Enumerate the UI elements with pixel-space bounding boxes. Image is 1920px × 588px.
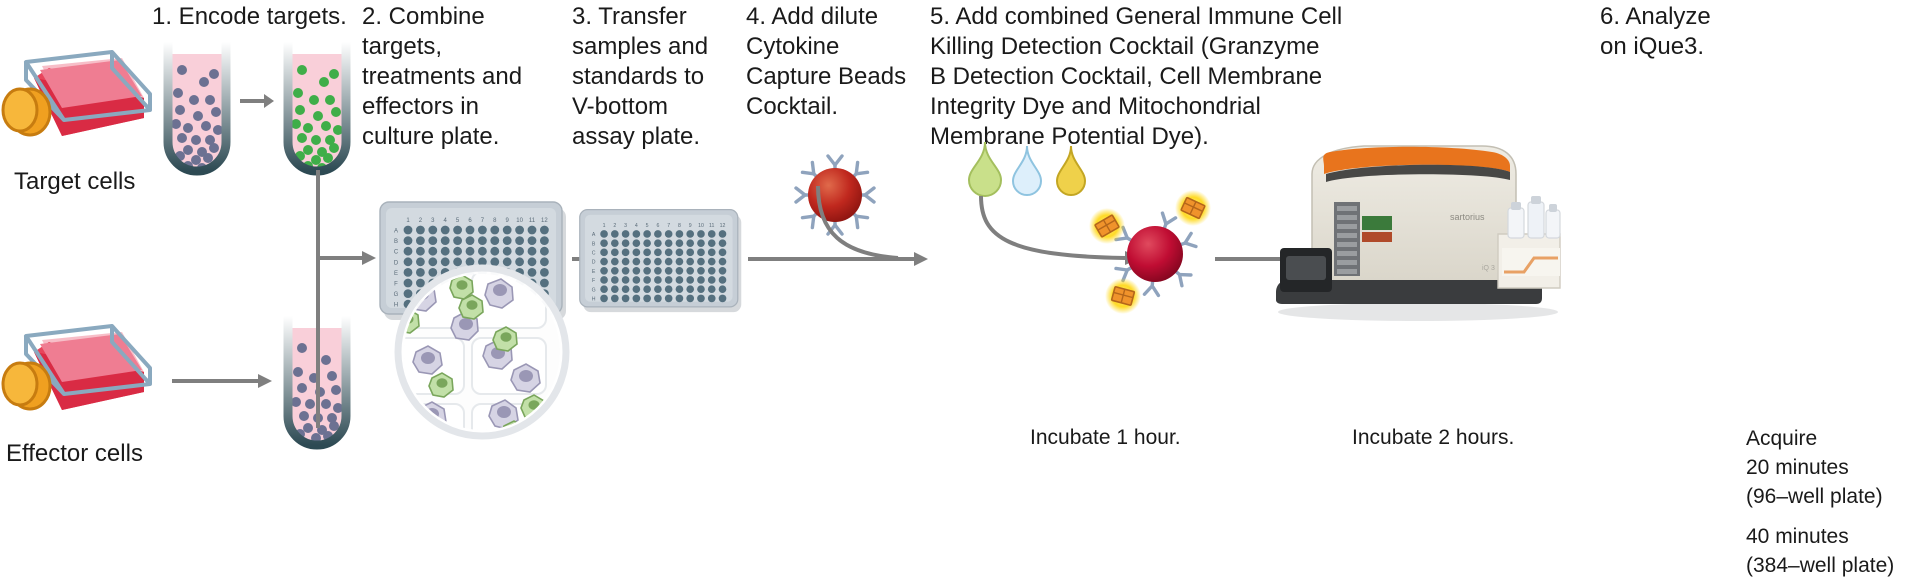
incubate-1-hour-caption: Incubate 1 hour. <box>1030 424 1181 451</box>
plate-col-header: 11 <box>709 223 715 229</box>
plate-well <box>643 276 651 284</box>
plate-well <box>622 258 630 266</box>
labeled-bead-graphic <box>1075 182 1225 322</box>
plate-well <box>428 236 437 245</box>
plate-well <box>643 267 651 275</box>
target-cells-flask-graphic <box>4 48 154 158</box>
plate-well <box>622 267 630 275</box>
plate-well <box>719 276 727 284</box>
plate-well <box>708 295 716 303</box>
plate-well <box>643 230 651 238</box>
plate-well <box>441 226 450 235</box>
plate-well <box>600 249 608 257</box>
plate-well <box>515 226 524 235</box>
plate-well <box>540 236 549 245</box>
plate-well <box>600 230 608 238</box>
plate-well <box>515 247 524 256</box>
plate-well <box>611 267 619 275</box>
plate-well <box>697 285 705 293</box>
plate-well <box>611 285 619 293</box>
plate-well <box>708 276 716 284</box>
plate-well <box>490 257 499 266</box>
target-tube-unstained-graphic <box>158 38 236 178</box>
plate-row-header: A <box>394 229 398 235</box>
plate-well <box>697 239 705 247</box>
plate-well <box>428 247 437 256</box>
step-4-label: 4. Add dilute Cytokine Capture Beads Coc… <box>746 2 946 122</box>
plate-well <box>416 257 425 266</box>
plate-well <box>697 276 705 284</box>
plate-well <box>708 258 716 266</box>
incubate-2-hours-caption: Incubate 2 hours. <box>1352 424 1514 451</box>
plate-col-header: 3 <box>624 223 627 229</box>
plate-well <box>676 239 684 247</box>
plate-well <box>540 226 549 235</box>
plate-col-header: 6 <box>656 223 659 229</box>
plate-well <box>633 267 641 275</box>
plate-well <box>441 236 450 245</box>
plate-well <box>611 230 619 238</box>
plate-well <box>478 226 487 235</box>
plate-well <box>428 226 437 235</box>
plate-well <box>719 285 727 293</box>
plate-col-header: 10 <box>698 223 704 229</box>
plate-well <box>404 236 413 245</box>
plate-row-header: G <box>592 287 596 293</box>
bead-dispense-curve <box>812 186 922 270</box>
plate-col-header: 4 <box>635 223 638 229</box>
plate-col-header: 12 <box>541 218 548 224</box>
plate-well <box>633 276 641 284</box>
plate-well <box>600 285 608 293</box>
plate-well <box>697 230 705 238</box>
step-3-label: 3. Transfer samples and standards to V-b… <box>572 2 757 152</box>
plate-well <box>490 247 499 256</box>
plate-well <box>600 295 608 303</box>
assay-plate: 123456789101112ABCDEFGH <box>578 200 743 320</box>
plate-well <box>654 295 662 303</box>
plate-well <box>404 247 413 256</box>
plate-row-header: C <box>592 251 596 257</box>
plate-well <box>665 276 673 284</box>
plate-well <box>441 257 450 266</box>
plate-well <box>708 285 716 293</box>
plate-well <box>719 295 727 303</box>
plate-well <box>600 239 608 247</box>
plate-well <box>708 230 716 238</box>
plate-well <box>643 239 651 247</box>
plate-well <box>611 239 619 247</box>
plate-well <box>686 276 694 284</box>
plate-well <box>676 276 684 284</box>
plate-well <box>665 258 673 266</box>
plate-well <box>622 230 630 238</box>
plate-well <box>654 276 662 284</box>
plate-well <box>633 230 641 238</box>
plate-well <box>453 236 462 245</box>
plate-well <box>478 247 487 256</box>
plate-well <box>466 247 475 256</box>
plate-well <box>643 249 651 257</box>
plate-well <box>686 258 694 266</box>
plate-well <box>622 276 630 284</box>
plate-well <box>697 295 705 303</box>
plate-well <box>686 249 694 257</box>
plate-well <box>697 267 705 275</box>
plate-col-header: 7 <box>667 223 670 229</box>
plate-well <box>665 249 673 257</box>
plate-well <box>633 239 641 247</box>
plate-well <box>676 295 684 303</box>
effector-cells-label: Effector cells <box>6 440 143 468</box>
plate-well <box>404 226 413 235</box>
plate-well <box>654 258 662 266</box>
plate-well <box>654 285 662 293</box>
plate-well <box>708 239 716 247</box>
acquire-block-96: Acquire 20 minutes (96–well plate) <box>1746 424 1883 511</box>
plate-well <box>676 249 684 257</box>
target-tube-encoded-graphic <box>278 38 356 178</box>
plate-well <box>466 236 475 245</box>
plate-well <box>676 230 684 238</box>
plate-well <box>611 258 619 266</box>
ique3-instrument-graphic: sartorius iQ 3 <box>1268 130 1568 330</box>
effector-flask-arrow <box>172 372 272 390</box>
plate-well <box>697 258 705 266</box>
plate-well <box>503 257 512 266</box>
plate-well <box>665 295 673 303</box>
well-magnifier-graphic <box>396 266 568 438</box>
plate-well <box>697 249 705 257</box>
step-2-label: 2. Combine targets, treatments and effec… <box>362 2 572 152</box>
step-6-label: 6. Analyze on iQue3. <box>1600 2 1800 62</box>
plate-well <box>676 258 684 266</box>
plate-well <box>611 249 619 257</box>
acquire-block-384: 40 minutes (384–well plate) <box>1746 522 1894 580</box>
plate-well <box>719 230 727 238</box>
plate-col-header: 2 <box>613 223 616 229</box>
plate-well <box>540 247 549 256</box>
plate-well <box>528 257 537 266</box>
plate-well <box>654 239 662 247</box>
plate-col-header: 1 <box>603 223 606 229</box>
plate-well <box>719 239 727 247</box>
plate-well <box>478 236 487 245</box>
plate-well <box>503 226 512 235</box>
plate-well <box>665 230 673 238</box>
plate-well <box>686 285 694 293</box>
plate-well <box>600 258 608 266</box>
plate-well <box>528 226 537 235</box>
plate-col-header: 10 <box>516 218 523 224</box>
plate-well <box>404 257 413 266</box>
plate-well <box>708 249 716 257</box>
plate-well <box>676 267 684 275</box>
plate-well <box>665 239 673 247</box>
plate-well <box>633 258 641 266</box>
plate-row-header: B <box>394 239 398 245</box>
plate-well <box>528 247 537 256</box>
plate-well <box>453 257 462 266</box>
step-1-label: 1. Encode targets. <box>152 2 352 32</box>
plate-well <box>490 226 499 235</box>
plate-well <box>453 226 462 235</box>
plate-well <box>600 267 608 275</box>
effector-cells-flask-graphic <box>4 322 154 432</box>
plate-row-header: E <box>592 269 596 275</box>
plate-well <box>416 247 425 256</box>
plate-well <box>633 295 641 303</box>
plate-well <box>654 249 662 257</box>
plate-well <box>665 285 673 293</box>
plate-well <box>441 247 450 256</box>
plate-well <box>622 295 630 303</box>
plate-well <box>686 267 694 275</box>
plate-well <box>466 257 475 266</box>
plate-well <box>719 258 727 266</box>
assay-plate-graphic: 123456789101112ABCDEFGH <box>578 200 743 320</box>
plate-row-header: C <box>394 250 399 256</box>
instrument-model-text: iQ 3 <box>1482 265 1495 272</box>
plate-col-header: 11 <box>529 218 536 224</box>
plate-well <box>719 267 727 275</box>
plate-well <box>654 267 662 275</box>
plate-well <box>416 226 425 235</box>
plate-row-header: B <box>592 241 596 247</box>
plate-well <box>622 239 630 247</box>
encode-arrow <box>240 92 274 110</box>
plate-well <box>686 295 694 303</box>
plate-well <box>622 285 630 293</box>
plate-well <box>643 285 651 293</box>
plate-well <box>686 239 694 247</box>
plate-well <box>719 249 727 257</box>
plate-well <box>686 230 694 238</box>
plate-col-header: 8 <box>678 223 681 229</box>
plate-well <box>654 230 662 238</box>
plate-well <box>490 236 499 245</box>
plate-col-header: 9 <box>689 223 692 229</box>
plate-well <box>643 258 651 266</box>
plate-row-header: H <box>592 297 596 303</box>
plate-well <box>676 285 684 293</box>
plate-well <box>708 267 716 275</box>
plate-col-header: 5 <box>646 223 649 229</box>
plate-well <box>633 285 641 293</box>
plate-well <box>633 249 641 257</box>
plate-well <box>600 276 608 284</box>
plate-well <box>622 249 630 257</box>
plate-well <box>416 236 425 245</box>
plate-well <box>665 267 673 275</box>
plate-well <box>643 295 651 303</box>
plate-row-header: D <box>592 260 596 266</box>
plate-well <box>428 257 437 266</box>
plate-well <box>503 236 512 245</box>
plate-well <box>611 295 619 303</box>
plate-well <box>503 247 512 256</box>
plate-well <box>528 236 537 245</box>
instrument-brand-text: sartorius <box>1450 212 1485 222</box>
plate-well <box>453 247 462 256</box>
plate-row-header: A <box>592 232 596 238</box>
plate-well <box>611 276 619 284</box>
target-cells-label: Target cells <box>14 168 135 196</box>
plate-well <box>515 236 524 245</box>
plate-well <box>466 226 475 235</box>
plate-well <box>540 257 549 266</box>
plate-col-header: 12 <box>720 223 726 229</box>
plate-well <box>515 257 524 266</box>
plate-row-header: F <box>592 278 595 284</box>
